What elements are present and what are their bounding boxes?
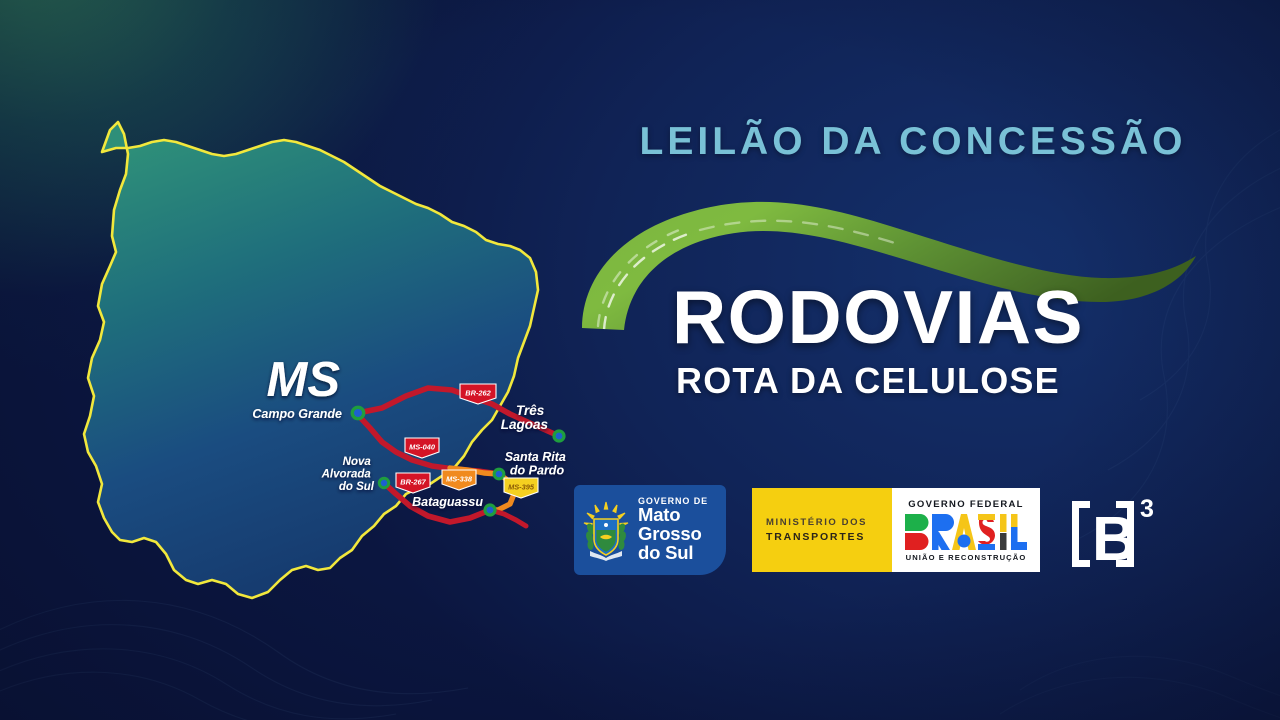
rodovias-logo: RODOVIAS ROTA DA CELULOSE (568, 190, 1248, 408)
marker-campo-grande (351, 406, 366, 421)
ms-coat-of-arms-icon (580, 499, 632, 561)
logo-governo-mato-grosso-do-sul: GOVERNO DE Mato Grosso do Sul (574, 485, 726, 575)
marker-nova-alvorada-do-sul (378, 477, 390, 489)
logo-b3: B 3 (1066, 487, 1162, 573)
right-content-column: LEILÃO DA CONCESSÃO (568, 120, 1248, 620)
city-label-santa-rita-do-pardo: Santa Rita do Pardo (505, 450, 570, 478)
page-title: LEILÃO DA CONCESSÃO (568, 120, 1248, 164)
svg-text:MS-338: MS-338 (446, 474, 473, 483)
marker-tres-lagoas (552, 429, 565, 442)
ms-gov-text: GOVERNO DE Mato Grosso do Sul (638, 497, 708, 563)
ms-gov-name-line-3: do Sul (638, 544, 708, 563)
city-label-tres-lagoas: Três Lagoas (501, 403, 549, 432)
svg-text:BR-262: BR-262 (465, 388, 491, 397)
city-label-campo-grande: Campo Grande (252, 407, 342, 421)
logo-ministerio-dos-transportes: MINISTÉRIO DOS TRANSPORTES (752, 488, 892, 572)
svg-text:BR-267: BR-267 (400, 477, 426, 486)
logo-ministry-and-federal: MINISTÉRIO DOS TRANSPORTES GOVERNO FEDER… (752, 488, 1040, 572)
highway-badge-ms-395: MS-395 (504, 478, 538, 498)
rodovias-wordmark: RODOVIAS (672, 282, 1084, 353)
federal-bottom-line: UNIÃO E RECONSTRUÇÃO (906, 553, 1027, 562)
b3-logo-icon: B 3 (1066, 487, 1162, 573)
brasil-wordmark-icon (904, 512, 1028, 552)
marker-bataguassu (483, 503, 496, 516)
b3-superscript: 3 (1140, 495, 1154, 523)
partner-logo-strip: GOVERNO DE Mato Grosso do Sul MINISTÉRIO… (574, 485, 1162, 575)
federal-top-line: GOVERNO FEDERAL (908, 499, 1024, 510)
rodovias-subtitle: ROTA DA CELULOSE (676, 360, 1060, 402)
ministry-line-2: TRANSPORTES (766, 531, 892, 543)
map-container: MS Campo Grande Três Lagoas Nova Alvorad… (40, 70, 640, 650)
mato-grosso-do-sul-map: MS Campo Grande Três Lagoas Nova Alvorad… (40, 70, 640, 650)
svg-text:MS-040: MS-040 (409, 442, 436, 451)
ministry-line-1: MINISTÉRIO DOS (766, 517, 892, 528)
city-label-bataguassu: Bataguassu (412, 495, 483, 509)
map-state-abbrev: MS (267, 353, 341, 407)
svg-text:MS-395: MS-395 (508, 482, 535, 491)
logo-governo-federal: GOVERNO FEDERAL (892, 488, 1040, 572)
b3-letter: B (1092, 505, 1137, 573)
highway-badge-ms-338: MS-338 (442, 470, 476, 490)
